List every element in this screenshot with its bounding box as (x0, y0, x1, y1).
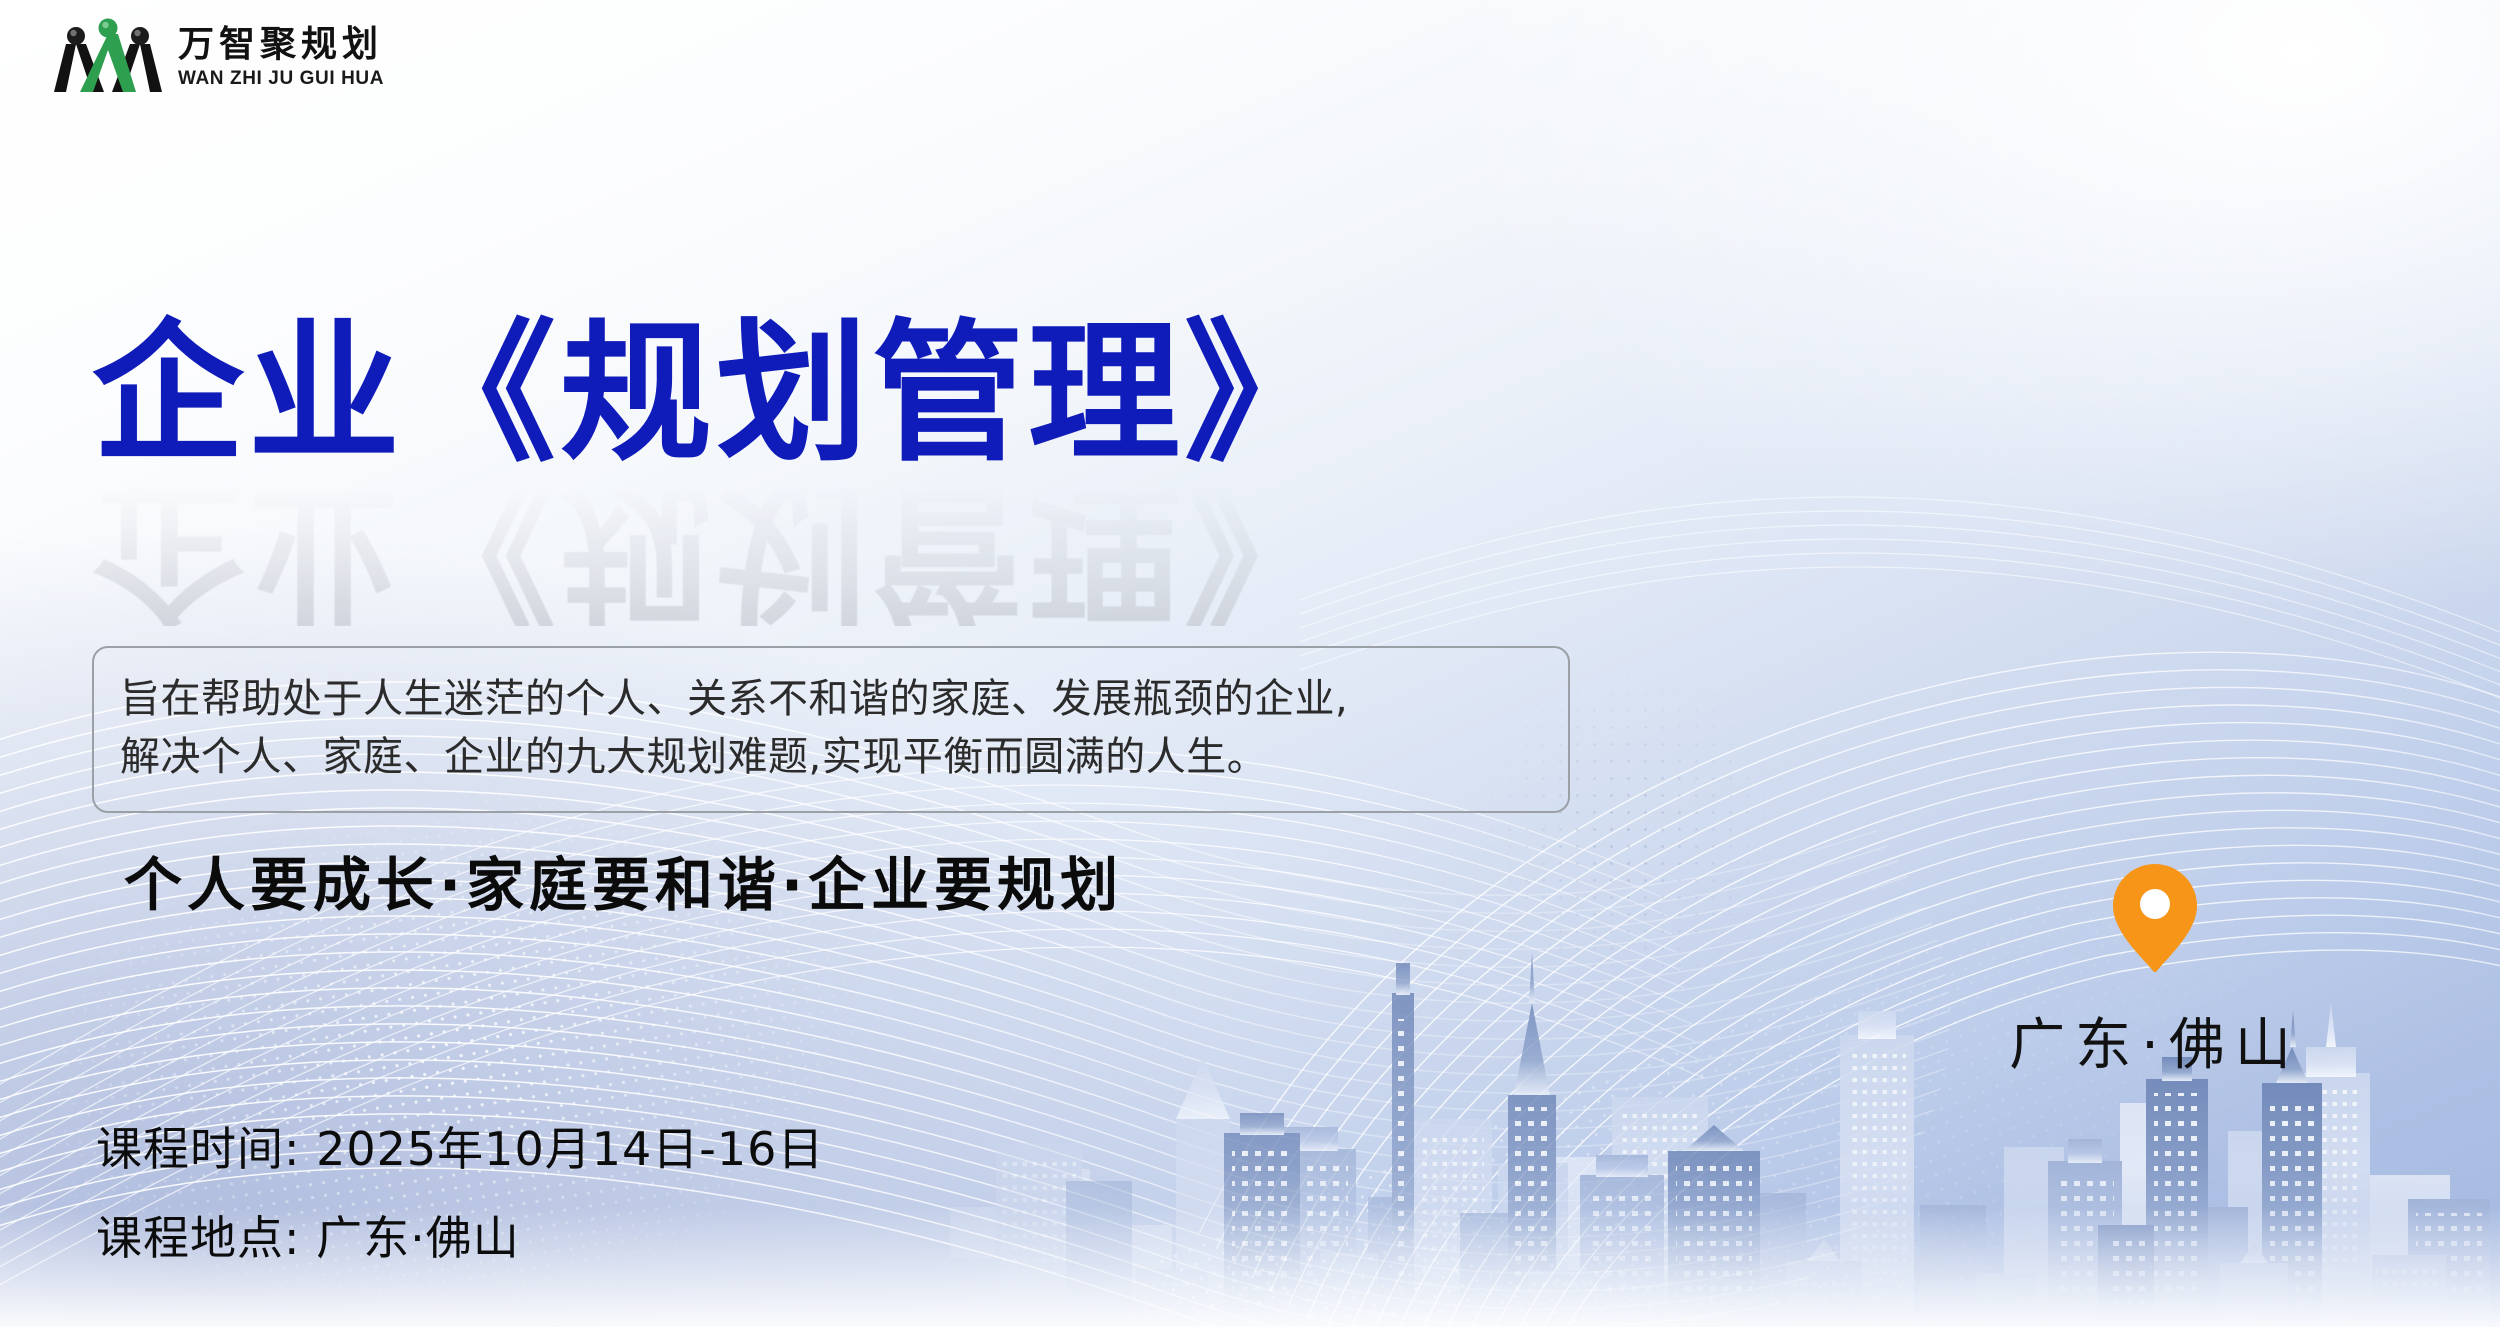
tagline: 个人要成长·家庭要和谐·企业要规划 (124, 838, 1123, 922)
brand-name-en: WAN ZHI JU GUI HUA (178, 69, 384, 88)
course-time-row: 课程时间: 2025年10月14日-16日 (96, 1118, 824, 1181)
brand-logo-text: 万智聚规划 WAN ZHI JU GUI HUA (178, 26, 384, 88)
promo-banner: 万智聚规划 WAN ZHI JU GUI HUA 企业《规划管理》 企业《规划管… (0, 0, 2500, 1327)
brand-name-cn: 万智聚规划 (178, 26, 384, 62)
page-title: 企业《规划管理》 (92, 318, 1340, 470)
description-line-2: 解决个人、家庭、企业的九大规划难题,实现平衡而圆满的人生。 (120, 728, 1542, 786)
course-place-row: 课程地点: 广东·佛山 (96, 1207, 824, 1270)
description-box: 旨在帮助处于人生迷茫的个人、关系不和谐的家庭、发展瓶颈的企业, 解决个人、家庭、… (92, 646, 1570, 813)
hero-title-block: 企业《规划管理》 企业《规划管理》 (92, 318, 1340, 626)
location-label: 广东·佛山 (2009, 1000, 2301, 1081)
three-people-group-logo-icon (52, 16, 164, 98)
brand-logo[interactable]: 万智聚规划 WAN ZHI JU GUI HUA (52, 16, 384, 98)
page-title-reflection: 企业《规划管理》 (92, 474, 1340, 626)
description-line-1: 旨在帮助处于人生迷茫的个人、关系不和谐的家庭、发展瓶颈的企业, (120, 670, 1542, 728)
location-marker: 广东·佛山 (1955, 862, 2355, 1081)
course-details: 课程时间: 2025年10月14日-16日 课程地点: 广东·佛山 (96, 1118, 824, 1271)
map-pin-icon (2109, 862, 2201, 974)
